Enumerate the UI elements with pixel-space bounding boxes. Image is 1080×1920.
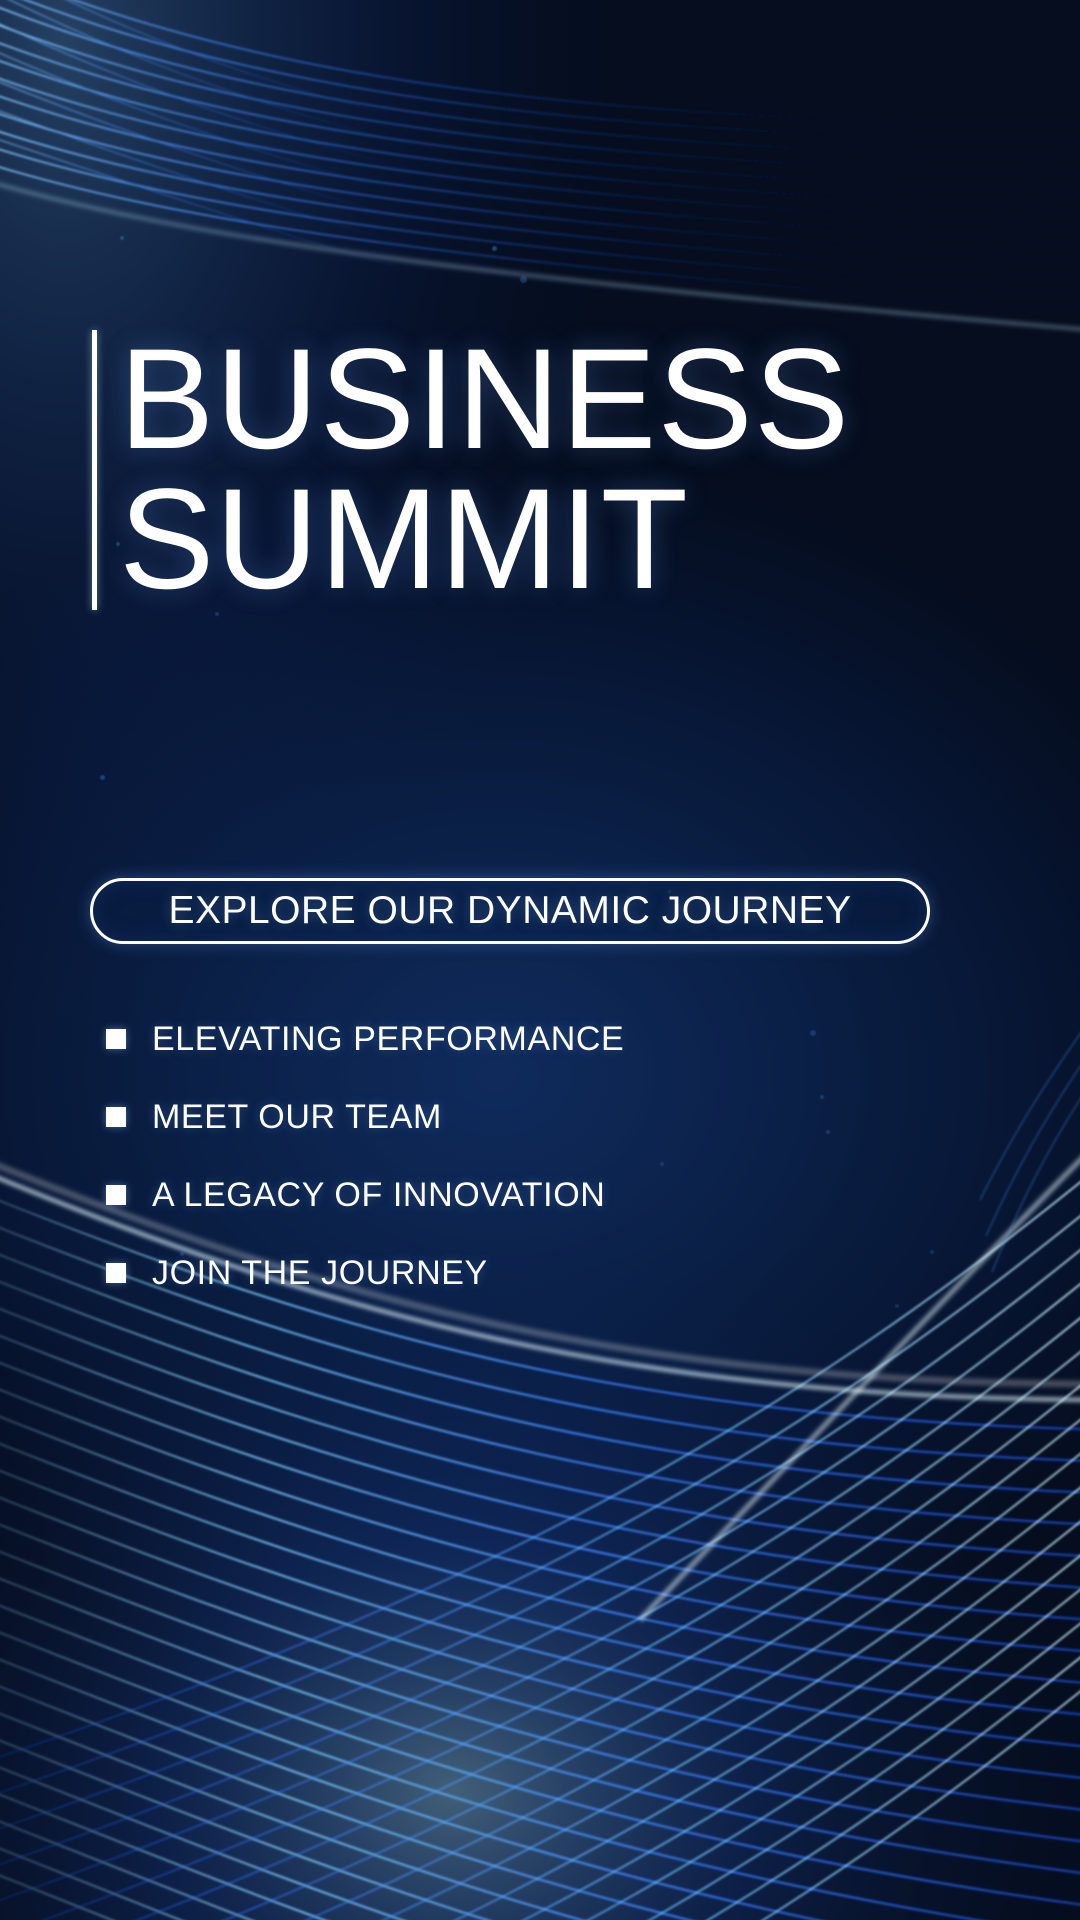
agenda-list: ELEVATING PERFORMANCE MEET OUR TEAM A LE… xyxy=(106,1000,826,1312)
title-block: BUSINESS SUMMIT xyxy=(92,330,850,610)
square-bullet-icon xyxy=(106,1029,126,1049)
poster-content: BUSINESS SUMMIT EXPLORE OUR DYNAMIC JOUR… xyxy=(0,0,1080,1920)
list-item-label: MEET OUR TEAM xyxy=(152,1098,442,1137)
vertical-accent-bar xyxy=(92,330,97,610)
list-item-label: ELEVATING PERFORMANCE xyxy=(152,1020,624,1059)
title-line-2: SUMMIT xyxy=(119,470,850,610)
poster-canvas: BUSINESS SUMMIT EXPLORE OUR DYNAMIC JOUR… xyxy=(0,0,1080,1920)
square-bullet-icon xyxy=(106,1107,126,1127)
cta-pill-button[interactable]: EXPLORE OUR DYNAMIC JOURNEY xyxy=(90,878,930,944)
list-item[interactable]: A LEGACY OF INNOVATION xyxy=(106,1156,826,1234)
title-line-1: BUSINESS xyxy=(119,330,850,470)
list-item[interactable]: ELEVATING PERFORMANCE xyxy=(106,1000,826,1078)
list-item-label: A LEGACY OF INNOVATION xyxy=(152,1176,605,1215)
list-item[interactable]: MEET OUR TEAM xyxy=(106,1078,826,1156)
title-text: BUSINESS SUMMIT xyxy=(119,330,850,610)
square-bullet-icon xyxy=(106,1185,126,1205)
square-bullet-icon xyxy=(106,1263,126,1283)
list-item[interactable]: JOIN THE JOURNEY xyxy=(106,1234,826,1312)
list-item-label: JOIN THE JOURNEY xyxy=(152,1254,488,1293)
cta-pill-label: EXPLORE OUR DYNAMIC JOURNEY xyxy=(168,889,851,933)
